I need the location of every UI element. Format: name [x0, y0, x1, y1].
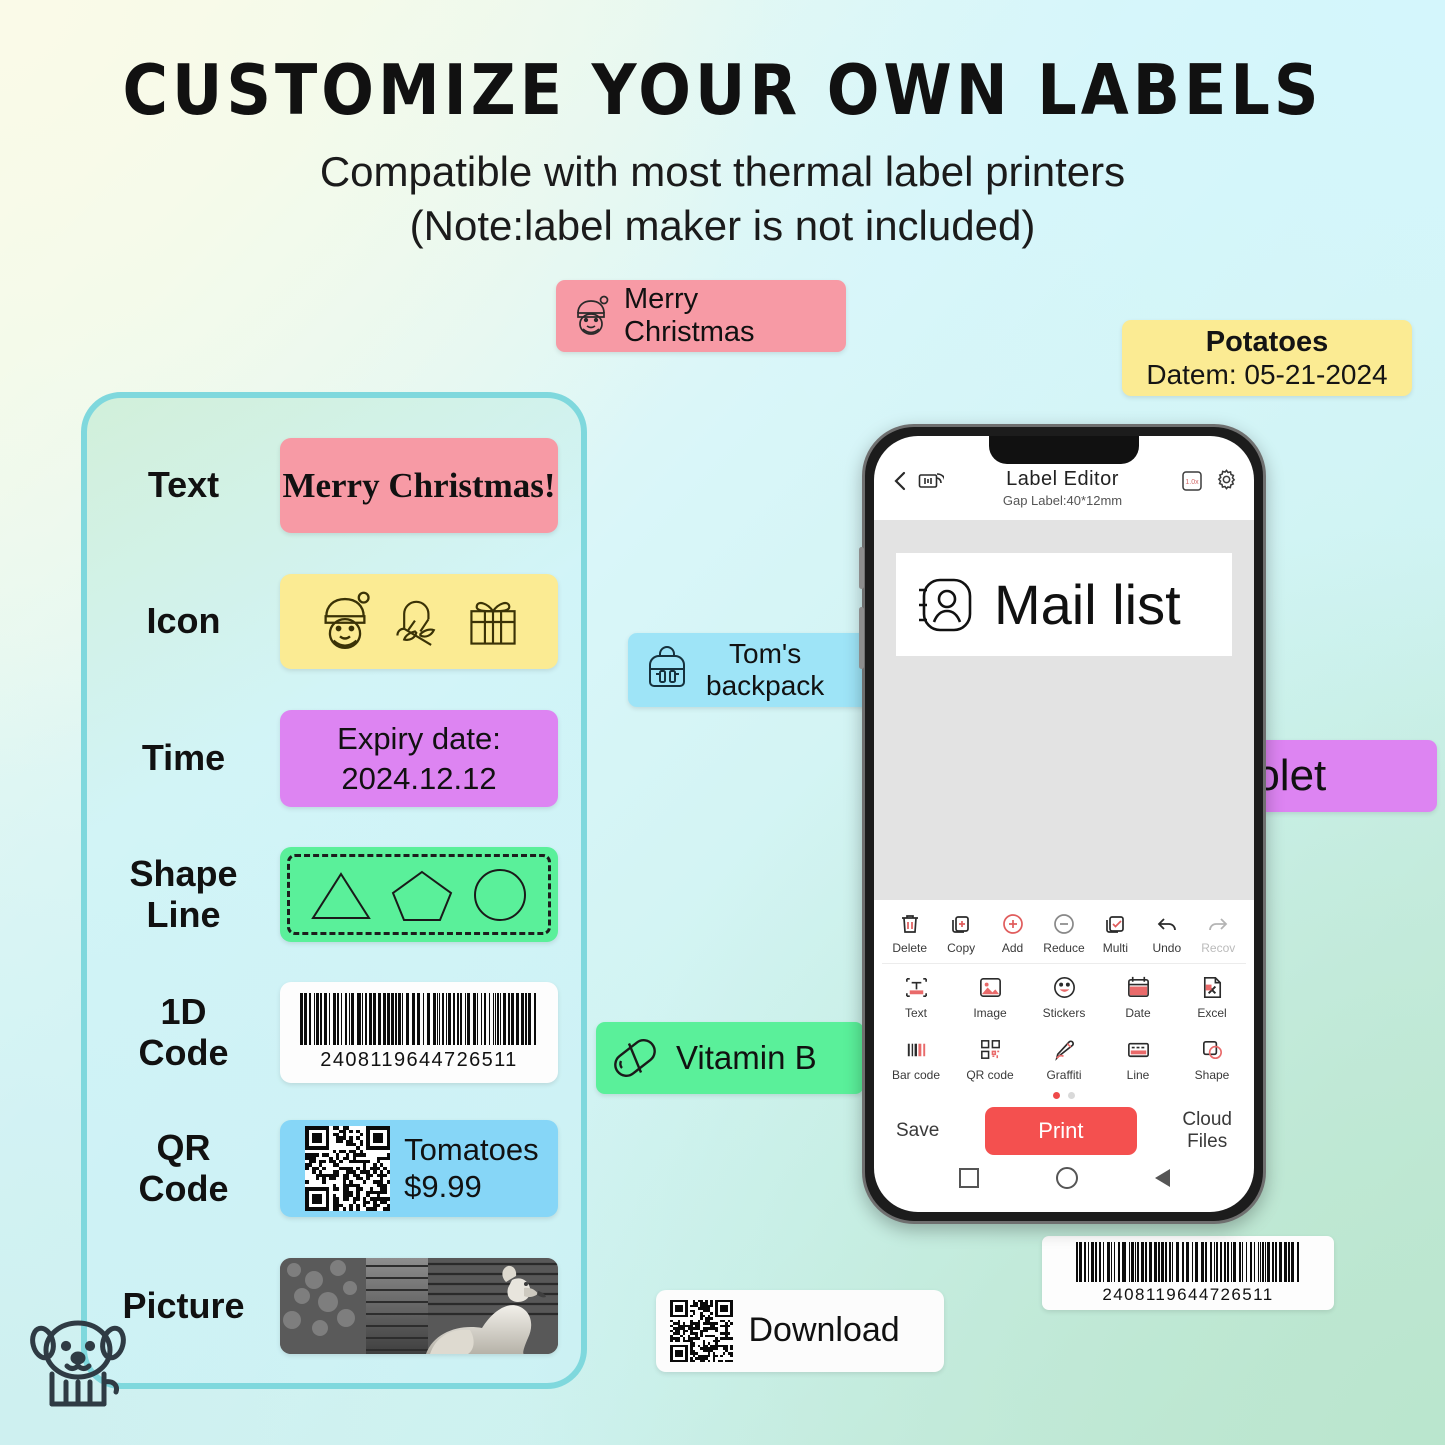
backpack-icon — [642, 645, 692, 695]
redo-icon — [1206, 912, 1230, 936]
tool-label: Image — [973, 1006, 1006, 1020]
label-text: Download — [749, 1311, 900, 1350]
phone-screen: Label Editor Gap Label:40*12mm 1.0x — [874, 436, 1254, 1212]
santa-icon — [314, 589, 376, 655]
feature-sample-qr: Tomatoes $9.99 — [280, 1120, 558, 1217]
toolbar-row-insert-2: Bar code QR code Graffiti Line Shape — [882, 1030, 1246, 1088]
bottom-action-bar: Save Print Cloud Files — [874, 1101, 1254, 1155]
qr-code-icon — [977, 1036, 1004, 1063]
tool-label: Delete — [892, 941, 927, 955]
contact-card-icon — [914, 572, 980, 638]
phone-power-button — [859, 607, 864, 669]
feature-row-shape-line: Shape Line — [87, 847, 593, 942]
floating-label-barcode: 2408119644726511 — [1042, 1236, 1334, 1310]
tool-label: Bar code — [892, 1068, 940, 1082]
tool-label: Line — [1127, 1068, 1150, 1082]
label-text: Vitamin B — [676, 1039, 817, 1077]
feature-label-line-1: Shape — [129, 853, 237, 894]
feature-label: 1D Code — [87, 992, 280, 1073]
barcode-graphic — [300, 993, 538, 1045]
tool-date[interactable]: Date — [1110, 974, 1166, 1020]
cloud-line-2: Files — [1187, 1131, 1227, 1152]
chevron-left-icon[interactable] — [888, 468, 918, 492]
tool-text[interactable]: Text — [888, 974, 944, 1020]
line-icon — [1125, 1036, 1152, 1063]
dog-photo — [280, 1258, 558, 1354]
feature-row-text: Text Merry Christmas! — [87, 438, 593, 533]
toolbar-row-edit: Delete Copy Add Reduce Multi — [882, 904, 1246, 964]
gift-icon — [462, 589, 524, 655]
barcode-icon — [903, 1036, 930, 1063]
tool-bar-code[interactable]: Bar code — [888, 1036, 944, 1082]
back-triangle-icon[interactable] — [1155, 1169, 1170, 1187]
page-subtitle: Compatible with most thermal label print… — [0, 145, 1445, 253]
feature-row-icon: Icon — [87, 574, 593, 669]
feature-label: QR Code — [87, 1128, 280, 1209]
pager-dot-active[interactable] — [1053, 1092, 1060, 1099]
tool-stickers[interactable]: Stickers — [1036, 974, 1092, 1020]
tool-undo[interactable]: Undo — [1141, 912, 1192, 955]
tool-label: Reduce — [1043, 941, 1084, 955]
tool-label: Recov — [1201, 941, 1235, 955]
plus-circle-icon — [1001, 912, 1025, 936]
label-canvas-area: Mail list — [874, 520, 1254, 900]
capsule-icon — [610, 1033, 660, 1083]
calendar-icon — [1125, 974, 1152, 1001]
feature-label-line-2: Code — [139, 1168, 229, 1209]
sample-line-1: Expiry date: — [337, 720, 501, 757]
triangle-shape-icon — [307, 864, 375, 926]
label-text: Tom's backpack — [706, 638, 824, 702]
shape-icon — [1199, 1036, 1226, 1063]
tool-image[interactable]: Image — [962, 974, 1018, 1020]
label-text-value: Mail list — [994, 572, 1181, 637]
label-text: Merry Christmas — [624, 283, 832, 350]
circle-home-icon[interactable] — [1056, 1167, 1078, 1189]
excel-file-icon — [1199, 974, 1226, 1001]
text-icon — [903, 974, 930, 1001]
feature-label-line-2: Line — [146, 894, 220, 935]
phone-notch — [989, 436, 1139, 464]
tool-add[interactable]: Add — [987, 912, 1038, 955]
barcode-number: 2408119644726511 — [1102, 1285, 1273, 1305]
qr-line-2: $9.99 — [404, 1169, 538, 1206]
tool-recover[interactable]: Recov — [1193, 912, 1244, 955]
sample-value: Merry Christmas! — [282, 466, 555, 506]
barcode-graphic — [1076, 1242, 1301, 1282]
feature-label: Shape Line — [87, 854, 280, 935]
feature-sample-picture — [280, 1258, 558, 1354]
santa-icon — [570, 293, 612, 339]
feature-sample-text: Merry Christmas! — [280, 438, 558, 533]
app-title: Label Editor — [944, 468, 1181, 491]
tool-reduce[interactable]: Reduce — [1038, 912, 1089, 955]
tool-label: Shape — [1195, 1068, 1230, 1082]
tool-qr-code[interactable]: QR code — [962, 1036, 1018, 1082]
feature-sample-shape — [280, 847, 558, 942]
floating-label-vitamin: Vitamin B — [596, 1022, 864, 1094]
sticker-smiley-icon — [1051, 974, 1078, 1001]
tool-label: Undo — [1152, 941, 1181, 955]
tool-label: Multi — [1103, 941, 1128, 955]
circle-shape-icon — [469, 864, 531, 926]
subtitle-line-2: (Note:label maker is not included) — [0, 199, 1445, 253]
features-panel: Text Merry Christmas! Icon — [81, 392, 587, 1389]
qr-code-icon — [305, 1126, 390, 1211]
tool-label: Excel — [1197, 1006, 1226, 1020]
print-button[interactable]: Print — [985, 1107, 1137, 1155]
label-size-icon[interactable]: 1.0x — [1181, 468, 1203, 492]
gear-icon[interactable] — [1203, 468, 1240, 491]
backpack-line-2: backpack — [706, 670, 824, 701]
feature-row-picture: Picture — [87, 1258, 593, 1354]
phone-mockup: Label Editor Gap Label:40*12mm 1.0x — [862, 424, 1266, 1224]
tool-label: QR code — [966, 1068, 1013, 1082]
page-title: CUSTOMIZE YOUR OWN LABELS — [0, 0, 1445, 131]
potatoes-title: Potatoes — [1206, 326, 1328, 359]
pager-dot[interactable] — [1068, 1092, 1075, 1099]
feature-label: Time — [87, 738, 280, 778]
sample-line-2: 2024.12.12 — [341, 760, 496, 797]
qr-line-1: Tomatoes — [404, 1132, 538, 1169]
tool-multi[interactable]: Multi — [1090, 912, 1141, 955]
phone-volume-button — [859, 547, 864, 589]
qr-code-icon — [670, 1300, 733, 1363]
feature-label-line-2: Code — [139, 1032, 229, 1073]
tool-graffiti[interactable]: Graffiti — [1036, 1036, 1092, 1082]
feature-row-time: Time Expiry date: 2024.12.12 — [87, 710, 593, 807]
tool-label: Date — [1125, 1006, 1150, 1020]
tool-copy[interactable]: Copy — [935, 912, 986, 955]
candy-cane-icon — [388, 589, 450, 655]
feature-label-line-1: 1D — [160, 991, 206, 1032]
tool-line[interactable]: Line — [1110, 1036, 1166, 1082]
tool-label: Stickers — [1043, 1006, 1086, 1020]
feature-row-1d-code: 1D Code 2408119644726511 — [87, 982, 593, 1083]
label-preview[interactable]: Mail list — [896, 553, 1232, 656]
printer-connect-icon[interactable] — [918, 468, 944, 492]
backpack-line-1: Tom's — [729, 638, 801, 669]
feature-label: Icon — [87, 601, 280, 641]
feature-sample-time: Expiry date: 2024.12.12 — [280, 710, 558, 807]
undo-icon — [1155, 912, 1179, 936]
square-nav-icon[interactable] — [959, 1168, 979, 1188]
android-navbar — [874, 1155, 1254, 1189]
trash-icon — [898, 912, 922, 936]
pentagon-shape-icon — [389, 864, 455, 926]
svg-text:1.0x: 1.0x — [1185, 479, 1199, 486]
save-button[interactable]: Save — [896, 1120, 939, 1142]
tool-label: Add — [1002, 941, 1023, 955]
feature-sample-barcode: 2408119644726511 — [280, 982, 558, 1083]
tool-label: Copy — [947, 941, 975, 955]
tool-label: Text — [905, 1006, 927, 1020]
toolbar-row-insert-1: Text Image Stickers Date Excel — [882, 964, 1246, 1030]
barcode-number: 2408119644726511 — [320, 1049, 517, 1072]
app-subtitle: Gap Label:40*12mm — [944, 493, 1181, 508]
pencil-icon — [1051, 1036, 1078, 1063]
tool-excel[interactable]: Excel — [1184, 974, 1240, 1020]
tool-label: Graffiti — [1046, 1068, 1081, 1082]
toolbar-pager[interactable] — [882, 1088, 1246, 1101]
cloud-files-button[interactable]: Cloud Files — [1182, 1109, 1232, 1153]
tool-delete[interactable]: Delete — [884, 912, 935, 955]
feature-row-qr-code: QR Code Tomatoes $9.99 — [87, 1120, 593, 1217]
subtitle-line-1: Compatible with most thermal label print… — [0, 145, 1445, 199]
feature-label-line-1: QR — [157, 1127, 211, 1168]
floating-label-potatoes: Potatoes Datem: 05-21-2024 — [1122, 320, 1412, 396]
floating-label-merry-christmas: Merry Christmas — [556, 280, 846, 352]
cloud-line-1: Cloud — [1182, 1109, 1232, 1130]
potatoes-date: Datem: 05-21-2024 — [1146, 359, 1387, 391]
qr-text: Tomatoes $9.99 — [404, 1132, 538, 1205]
page-header: CUSTOMIZE YOUR OWN LABELS Compatible wit… — [0, 0, 1445, 253]
feature-sample-icon — [280, 574, 558, 669]
editor-toolbar: Delete Copy Add Reduce Multi — [874, 900, 1254, 1101]
app-title-block: Label Editor Gap Label:40*12mm — [944, 468, 1181, 508]
multi-select-icon — [1103, 912, 1127, 936]
feature-label: Text — [87, 465, 280, 505]
image-icon — [977, 974, 1004, 1001]
floating-label-download: Download — [656, 1290, 944, 1372]
minus-circle-icon — [1052, 912, 1076, 936]
tool-shape[interactable]: Shape — [1184, 1036, 1240, 1082]
dog-outline-icon — [24, 1310, 132, 1420]
copy-icon — [949, 912, 973, 936]
